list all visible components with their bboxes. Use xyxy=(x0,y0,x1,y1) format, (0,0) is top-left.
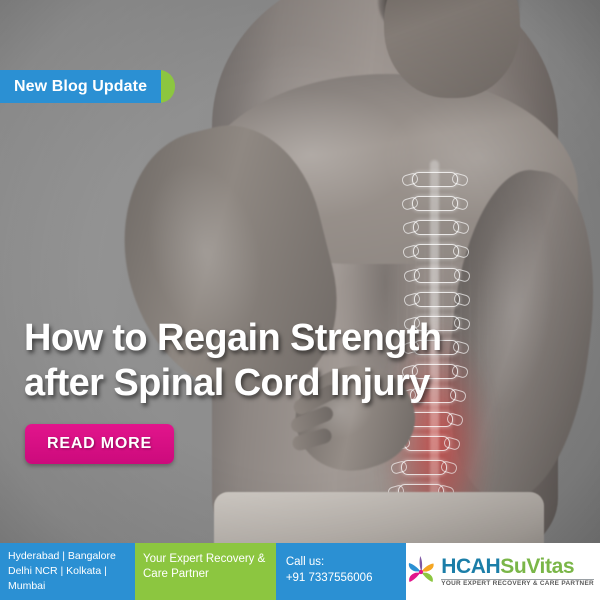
logo-wordmark: HCAHSuVitas YOUR EXPERT RECOVERY & CARE … xyxy=(441,556,594,588)
headline-line-1: How to Regain Strength xyxy=(24,316,580,361)
butterfly-logo-icon xyxy=(406,555,436,589)
headline-line-2: after Spinal Cord Injury xyxy=(24,361,580,406)
footer-contact[interactable]: Call us: +91 7337556006 xyxy=(276,543,406,600)
page-title: How to Regain Strength after Spinal Cord… xyxy=(24,316,580,406)
new-blog-update-badge: New Blog Update xyxy=(0,70,175,103)
logo-main-text: HCAHSuVitas xyxy=(441,556,594,577)
blog-promo-banner: New Blog Update How to Regain Strength a… xyxy=(0,0,600,600)
brand-logo[interactable]: HCAHSuVitas YOUR EXPERT RECOVERY & CARE … xyxy=(406,543,600,600)
footer-cities: Hyderabad | Bangalore Delhi NCR | Kolkat… xyxy=(0,543,135,600)
logo-suvitas-text: SuVitas xyxy=(500,555,574,578)
logo-hcah-text: HCAH xyxy=(441,555,500,578)
phone-number[interactable]: +91 7337556006 xyxy=(286,570,398,586)
logo-subtitle: YOUR EXPERT RECOVERY & CARE PARTNER xyxy=(441,579,594,588)
badge-label: New Blog Update xyxy=(0,70,161,103)
read-more-button[interactable]: READ MORE xyxy=(25,424,174,464)
footer-tagline: Your Expert Recovery & Care Partner xyxy=(135,543,276,600)
footer-bar: Hyderabad | Bangalore Delhi NCR | Kolkat… xyxy=(0,543,600,600)
call-us-label: Call us: xyxy=(286,554,398,570)
